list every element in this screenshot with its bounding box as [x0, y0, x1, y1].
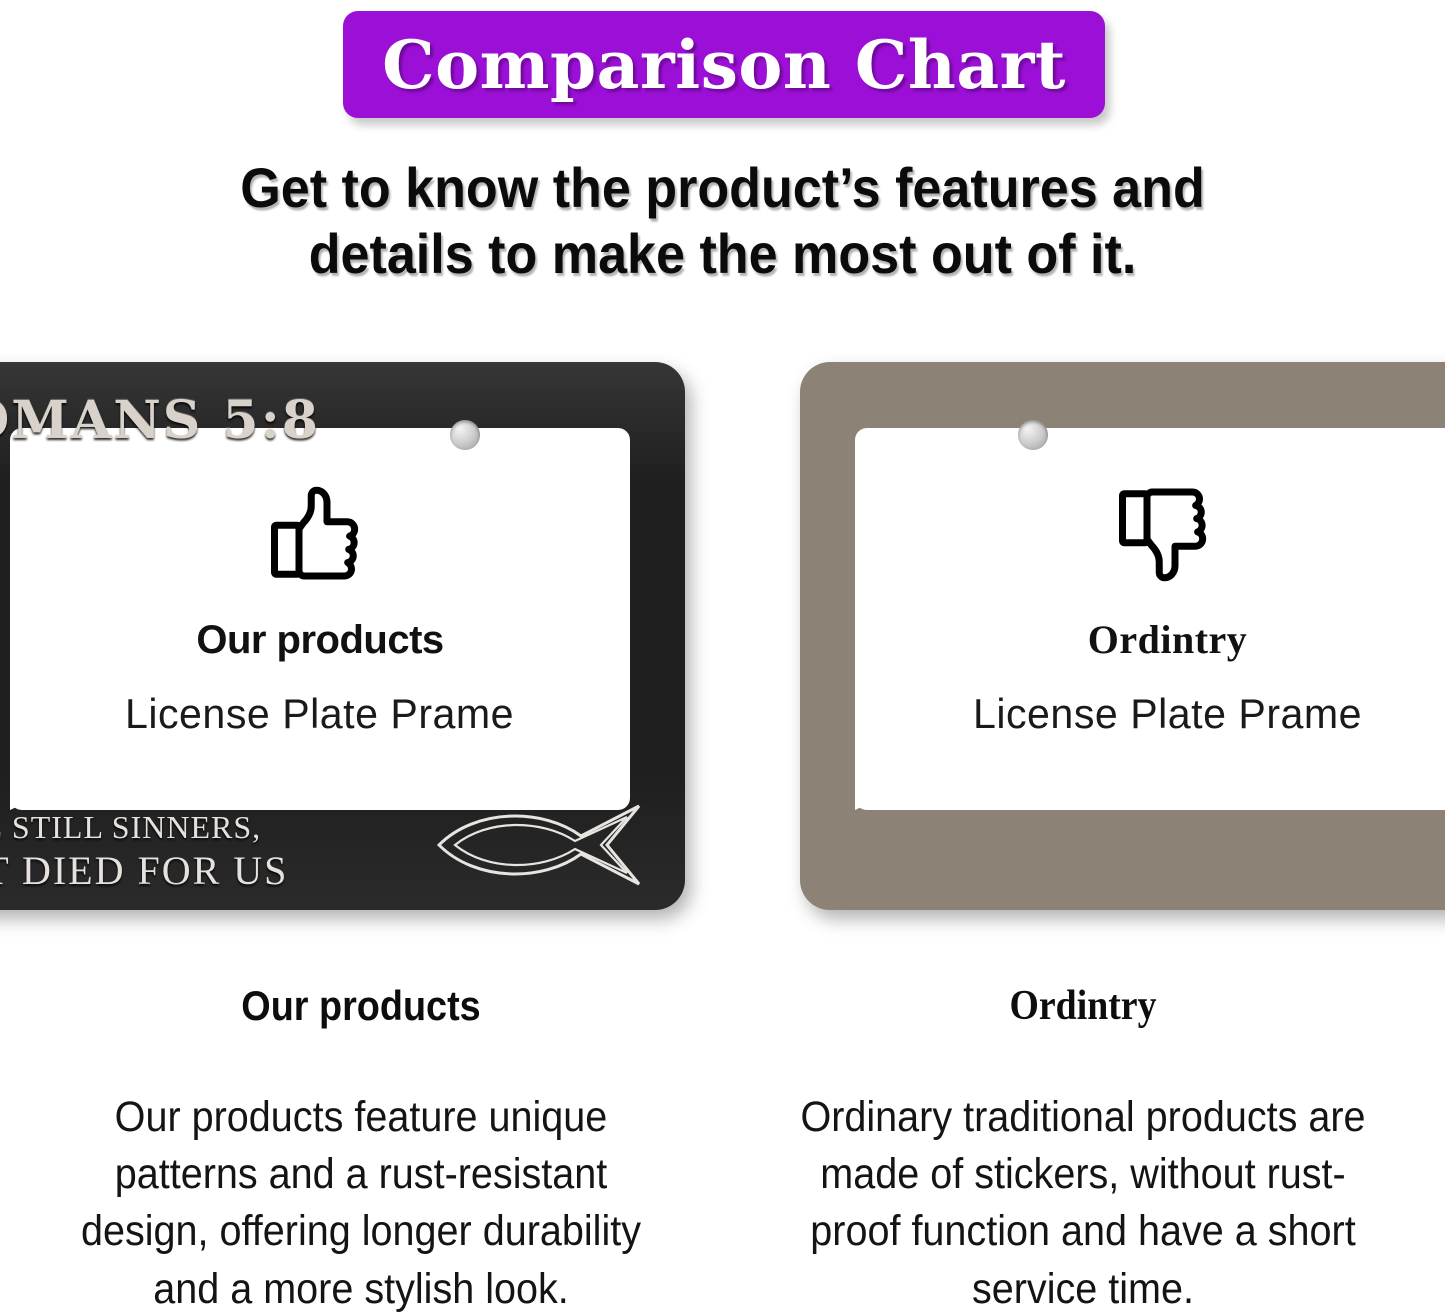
comparison-chart-page: Comparison Chart Get to know the product… — [0, 0, 1445, 1314]
plate-verse-line-1: RE STILL SINNERS, — [0, 808, 420, 847]
plate-verse-reference: OMANS 5:8 — [0, 390, 420, 451]
plate-verse-line-2: ST DIED FOR US — [0, 847, 420, 894]
ichthys-fish-icon — [431, 802, 651, 888]
subtitle-line-1: Get to know the product’s features and — [51, 155, 1395, 221]
plate-notch-bottom-left-right — [855, 764, 955, 810]
plate-window-left — [10, 428, 630, 810]
column-heading-ordinary: Ordintry — [801, 985, 1364, 1027]
title-banner: Comparison Chart — [343, 11, 1105, 118]
product-comparison-stage: OMANS 5:8 RE STILL SINNERS, ST DIED FOR … — [0, 352, 1445, 927]
subtitle-line-2: details to make the most out of it. — [51, 221, 1395, 287]
column-heading-ours: Our products — [79, 985, 642, 1027]
comparison-column-ordinary: Ordintry Ordinary traditional products a… — [722, 985, 1444, 1314]
page-title: Comparison Chart — [382, 32, 1066, 98]
product-image-ordinary: Ordintry License Plate Prame — [800, 362, 1445, 910]
subtitle: Get to know the product’s features and d… — [51, 155, 1395, 287]
comparison-column-ours: Our products Our products feature unique… — [0, 985, 722, 1314]
plate-notch-bottom-left-left — [10, 764, 110, 810]
product-image-ours: OMANS 5:8 RE STILL SINNERS, ST DIED FOR … — [0, 362, 685, 910]
plate-verse-text: RE STILL SINNERS, ST DIED FOR US — [0, 808, 420, 894]
comparison-columns: Our products Our products feature unique… — [0, 985, 1445, 1314]
column-body-ours: Our products feature unique patterns and… — [73, 1089, 649, 1314]
column-body-ordinary: Ordinary traditional products are made o… — [795, 1089, 1371, 1314]
plate-window-right — [855, 428, 1445, 810]
screw-hole-icon — [1018, 420, 1048, 450]
plate-notch-top-right-right — [1230, 428, 1330, 474]
screw-hole-icon — [450, 420, 480, 450]
